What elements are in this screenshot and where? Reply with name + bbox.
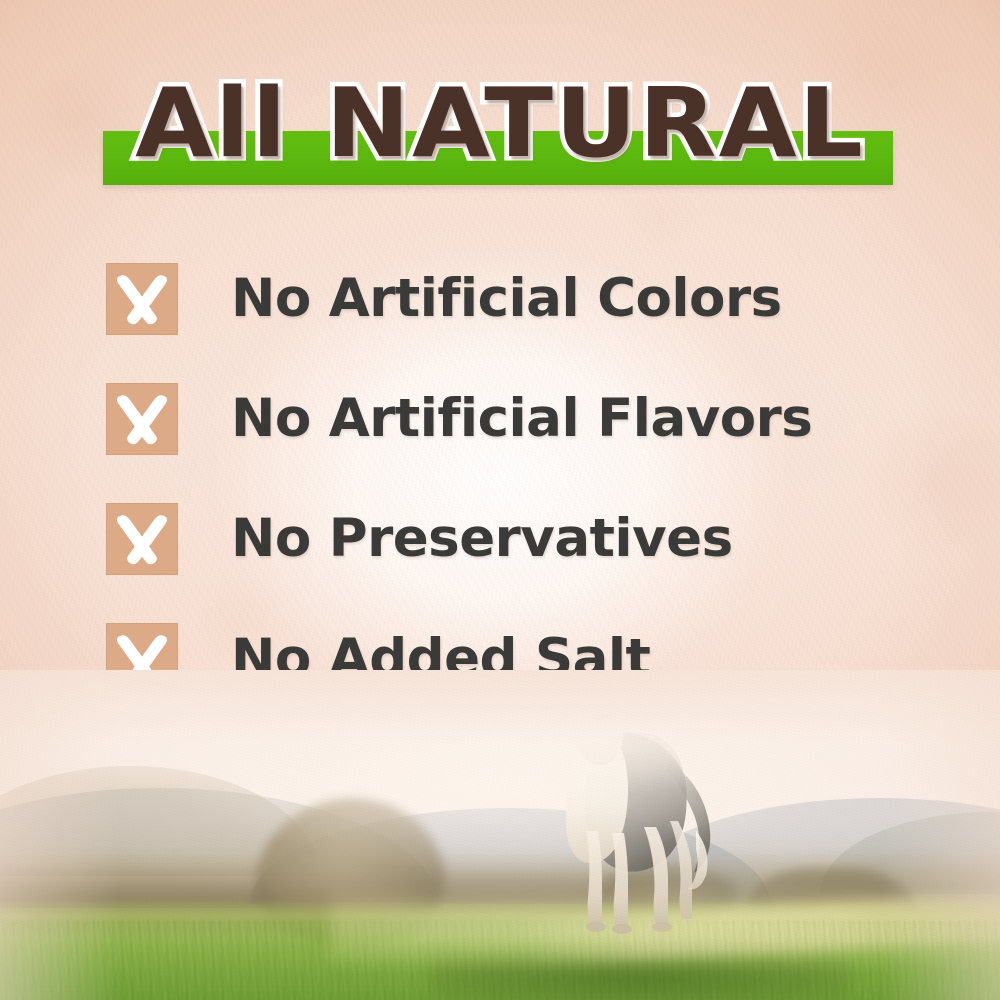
benefit-row: No Artificial Flavors xyxy=(106,375,966,495)
benefit-label: No Artificial Flavors xyxy=(231,375,812,463)
benefit-row: No Preservatives xyxy=(106,495,966,615)
dog-in-field-photo xyxy=(0,670,1000,1000)
benefits-list: No Artificial Colors No Artificial Flavo… xyxy=(106,255,966,735)
benefit-label: No Artificial Colors xyxy=(231,255,782,343)
all-natural-poster: All NATURAL No Artificial Colors No Arti… xyxy=(0,0,1000,1000)
headline-banner: All NATURAL xyxy=(0,72,1000,192)
photo-grain xyxy=(0,670,1000,1000)
benefit-row: No Artificial Colors xyxy=(106,255,966,375)
x-mark-icon xyxy=(106,263,178,335)
benefit-label: No Preservatives xyxy=(231,495,733,583)
x-mark-icon xyxy=(106,503,178,575)
x-mark-icon xyxy=(106,383,178,455)
headline-title: All NATURAL xyxy=(0,72,1000,176)
